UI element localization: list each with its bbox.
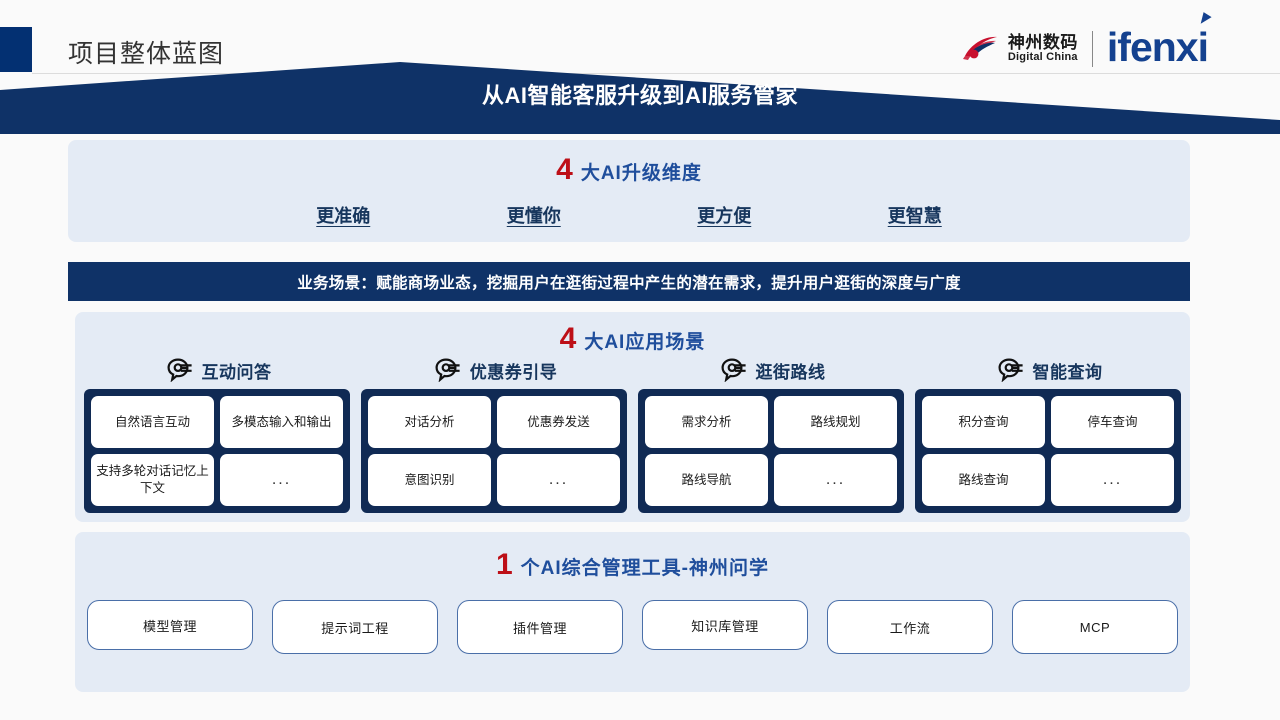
scenarios-label: 大AI应用场景 — [584, 327, 705, 354]
tool-chip-workflow[interactable]: 工作流 — [827, 600, 993, 654]
dimension-item-1[interactable]: 更准确 — [316, 202, 370, 228]
scenario-cell[interactable]: 积分查询 — [922, 396, 1045, 448]
scenarios-count: 4 — [560, 324, 577, 354]
scenario-cell[interactable]: 优惠券发送 — [497, 396, 620, 448]
scenario-cell-more[interactable]: ... — [497, 454, 620, 506]
scenario-cell[interactable]: 需求分析 — [645, 396, 768, 448]
scenario-group-label: 优惠券引导 — [470, 358, 558, 383]
tool-chip-model-management[interactable]: 模型管理 — [87, 600, 253, 650]
slide-canvas: 项目整体蓝图 神州数码 Digital China ifenxi 从AI智能客服… — [0, 0, 1280, 720]
management-tool-panel: 1 个AI综合管理工具-神州问学 模型管理 提示词工程 插件管理 知识库管理 工… — [75, 532, 1190, 692]
scenarios-grid: 互动问答 自然语言互动 多模态输入和输出 支持多轮对话记忆上下文 ... — [75, 354, 1190, 519]
scenario-cell[interactable]: 支持多轮对话记忆上下文 — [91, 454, 214, 506]
tool-chip-mcp[interactable]: MCP — [1012, 600, 1178, 654]
header-accent-block — [0, 27, 32, 72]
dimensions-count: 4 — [556, 155, 573, 185]
dimension-item-2[interactable]: 更懂你 — [507, 202, 561, 228]
scenario-group-header: 互动问答 — [84, 354, 350, 386]
scenario-cell[interactable]: 停车查询 — [1051, 396, 1174, 448]
scenarios-panel: 4 大AI应用场景 互动问答 自然语言互动 多模态输入和输出 支持多轮对话记忆上 — [75, 312, 1190, 522]
dimensions-heading: 4 大AI升级维度 — [68, 155, 1190, 185]
dimension-item-3[interactable]: 更方便 — [697, 202, 751, 228]
scenario-cell-more[interactable]: ... — [774, 454, 897, 506]
scenario-group-header: 逛街路线 — [638, 354, 904, 386]
scenario-group-smart-query: 智能查询 积分查询 停车查询 路线查询 ... — [915, 354, 1181, 519]
business-scenario-text: 业务场景：赋能商场业态，挖掘用户在逛街过程中产生的潜在需求，提升用户逛街的深度与… — [297, 271, 961, 293]
scenario-cell-more[interactable]: ... — [1051, 454, 1174, 506]
dimension-item-4[interactable]: 更智慧 — [888, 202, 942, 228]
ifenxi-wordmark: ifenxi — [1107, 27, 1208, 68]
logo-divider — [1092, 31, 1093, 67]
scenario-group-label: 逛街路线 — [756, 358, 826, 383]
scenario-cell[interactable]: 对话分析 — [368, 396, 491, 448]
logo-group: 神州数码 Digital China ifenxi — [961, 28, 1208, 69]
scenario-group-label: 互动问答 — [202, 358, 272, 383]
scenario-card-container: 积分查询 停车查询 路线查询 ... — [915, 389, 1181, 513]
ifenxi-logo: ifenxi — [1107, 27, 1208, 68]
dimensions-list: 更准确 更懂你 更方便 更智慧 — [68, 202, 1190, 228]
chat-bot-icon — [998, 358, 1024, 382]
scenario-cell[interactable]: 路线查询 — [922, 454, 1045, 506]
scenario-group-shopping-route: 逛街路线 需求分析 路线规划 路线导航 ... — [638, 354, 904, 519]
scenario-card-container: 对话分析 优惠券发送 意图识别 ... — [361, 389, 627, 513]
scenario-group-interactive-qa: 互动问答 自然语言互动 多模态输入和输出 支持多轮对话记忆上下文 ... — [84, 354, 350, 519]
scenario-card-container: 自然语言互动 多模态输入和输出 支持多轮对话记忆上下文 ... — [84, 389, 350, 513]
tool-chip-plugin-management[interactable]: 插件管理 — [457, 600, 623, 654]
dimensions-label: 大AI升级维度 — [581, 158, 702, 185]
tool-count: 1 — [496, 550, 513, 580]
tool-heading: 1 个AI综合管理工具-神州问学 — [75, 550, 1190, 580]
scenarios-heading: 4 大AI应用场景 — [75, 324, 1190, 354]
scenario-group-label: 智能查询 — [1033, 358, 1103, 383]
tool-chip-knowledge-base[interactable]: 知识库管理 — [642, 600, 808, 650]
logo-text-en: Digital China — [1008, 52, 1078, 64]
swoosh-icon — [961, 32, 1001, 66]
page-title: 项目整体蓝图 — [68, 34, 224, 70]
dimensions-panel: 4 大AI升级维度 更准确 更懂你 更方便 更智慧 — [68, 140, 1190, 242]
scenario-cell[interactable]: 自然语言互动 — [91, 396, 214, 448]
scenario-group-header: 智能查询 — [915, 354, 1181, 386]
logo-text-cn: 神州数码 — [1008, 34, 1078, 52]
scenario-cell[interactable]: 意图识别 — [368, 454, 491, 506]
scenario-group-coupon-guidance: 优惠券引导 对话分析 优惠券发送 意图识别 ... — [361, 354, 627, 519]
scenario-card-container: 需求分析 路线规划 路线导航 ... — [638, 389, 904, 513]
scenario-cell-more[interactable]: ... — [220, 454, 343, 506]
digital-china-logo: 神州数码 Digital China — [961, 32, 1078, 66]
banner-title: 从AI智能客服升级到AI服务管家 — [0, 78, 1280, 110]
scenario-cell[interactable]: 多模态输入和输出 — [220, 396, 343, 448]
scenario-group-header: 优惠券引导 — [361, 354, 627, 386]
chat-bot-icon — [167, 358, 193, 382]
chat-bot-icon — [721, 358, 747, 382]
business-scenario-bar: 业务场景：赋能商场业态，挖掘用户在逛街过程中产生的潜在需求，提升用户逛街的深度与… — [68, 262, 1190, 301]
tool-chip-row: 模型管理 提示词工程 插件管理 知识库管理 工作流 MCP — [75, 600, 1190, 654]
tool-label: 个AI综合管理工具-神州问学 — [521, 553, 769, 580]
header-divider — [32, 73, 1280, 74]
chat-bot-icon — [435, 358, 461, 382]
tool-chip-prompt-engineering[interactable]: 提示词工程 — [272, 600, 438, 654]
scenario-cell[interactable]: 路线规划 — [774, 396, 897, 448]
scenario-cell[interactable]: 路线导航 — [645, 454, 768, 506]
